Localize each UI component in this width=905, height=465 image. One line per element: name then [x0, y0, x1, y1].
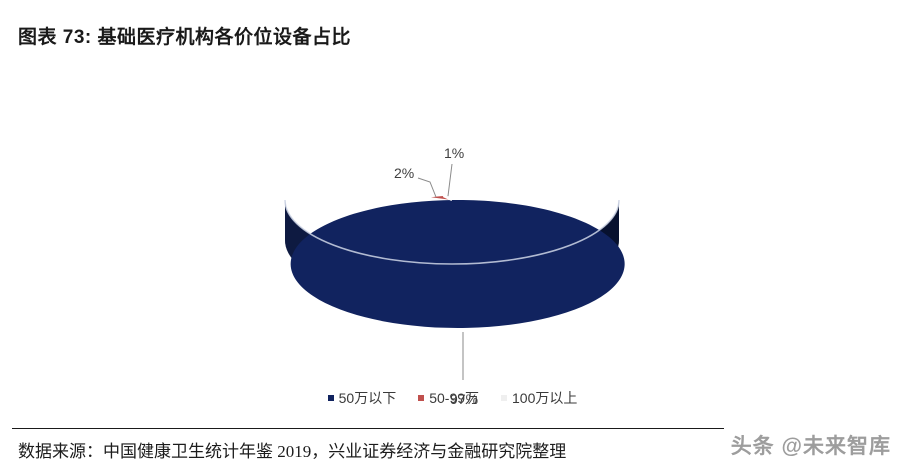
legend-item-50wan-yixia[interactable]: 50万以下 — [328, 388, 397, 408]
leader-line-2pct — [418, 178, 436, 197]
chart-legend: 50万以下 50-99万 100万以上 — [0, 385, 905, 411]
watermark: 头条 @未来智库 — [731, 430, 891, 460]
legend-swatch-icon — [328, 395, 334, 401]
legend-label: 100万以上 — [512, 388, 577, 408]
leader-line-1pct — [448, 164, 452, 196]
pie-top-faces — [285, 196, 625, 328]
pie-chart-svg — [0, 60, 905, 380]
legend-item-50-99wan[interactable]: 50-99万 — [418, 388, 479, 408]
legend-item-100wan-yishang[interactable]: 100万以上 — [501, 388, 577, 408]
source-note: 数据来源：中国健康卫生统计年鉴 2019，兴业证券经济与金融研究院整理 — [18, 437, 566, 462]
legend-label: 50-99万 — [429, 388, 479, 408]
data-label-2-percent: 2% — [394, 165, 414, 181]
chart-page: 图表 73: 基础医疗机构各价位设备占比 — [0, 0, 905, 465]
legend-swatch-icon — [418, 395, 424, 401]
pie-chart-area: 2% 1% 97% — [0, 60, 905, 380]
legend-swatch-icon — [501, 395, 507, 401]
legend-label: 50万以下 — [339, 388, 397, 408]
data-label-1-percent: 1% — [444, 145, 464, 161]
page-title: 图表 73: 基础医疗机构各价位设备占比 — [18, 22, 351, 49]
footer-divider — [12, 428, 724, 429]
